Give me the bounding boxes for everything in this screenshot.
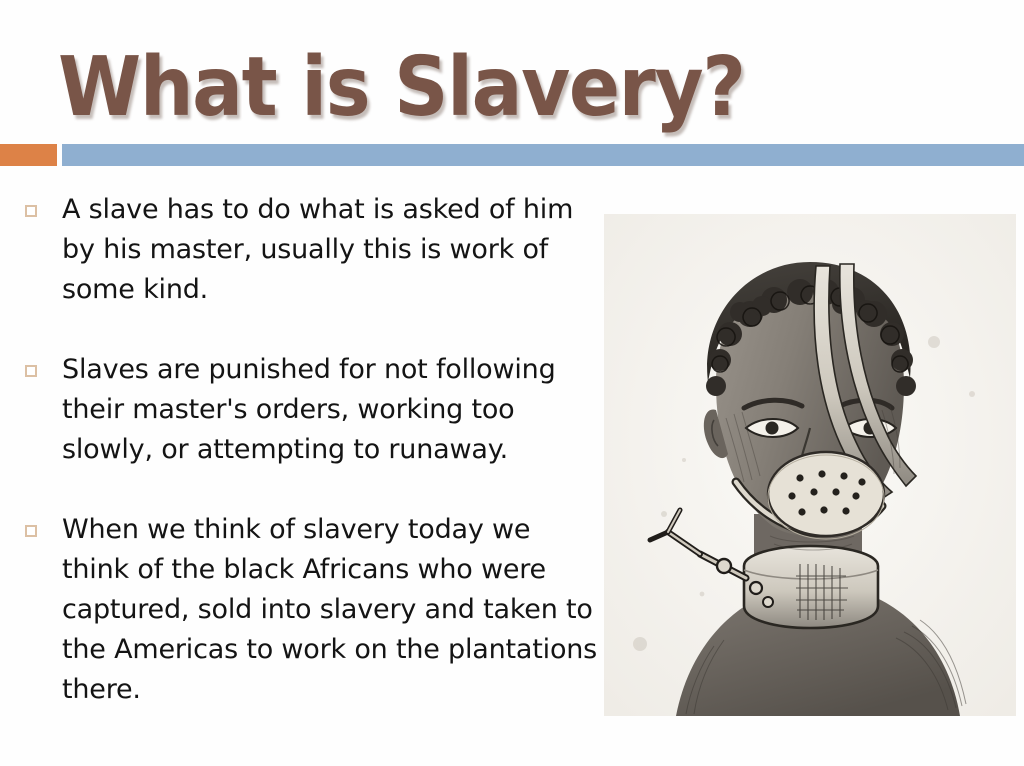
bullet-list: A slave has to do what is asked of him b… <box>18 190 598 710</box>
divider-accent-orange <box>0 144 57 166</box>
list-item: When we think of slavery today we think … <box>18 510 598 710</box>
slide: What is Slavery? A slave has to do what … <box>0 0 1024 766</box>
hollow-square-bullet-icon <box>25 525 37 537</box>
divider <box>0 144 1024 166</box>
list-item-text: Slaves are punished for not following th… <box>62 354 556 465</box>
list-item-text: A slave has to do what is asked of him b… <box>62 194 573 305</box>
hollow-square-bullet-icon <box>25 365 37 377</box>
title-area: What is Slavery? <box>0 38 1024 142</box>
illustration-enslaved-person-with-iron-mask <box>604 214 1016 716</box>
hollow-square-bullet-icon <box>25 205 37 217</box>
list-item: Slaves are punished for not following th… <box>18 350 598 470</box>
list-item: A slave has to do what is asked of him b… <box>18 190 598 310</box>
list-item-text: When we think of slavery today we think … <box>62 514 597 705</box>
page-title: What is Slavery? <box>58 38 745 138</box>
divider-bar-blue <box>62 144 1024 166</box>
